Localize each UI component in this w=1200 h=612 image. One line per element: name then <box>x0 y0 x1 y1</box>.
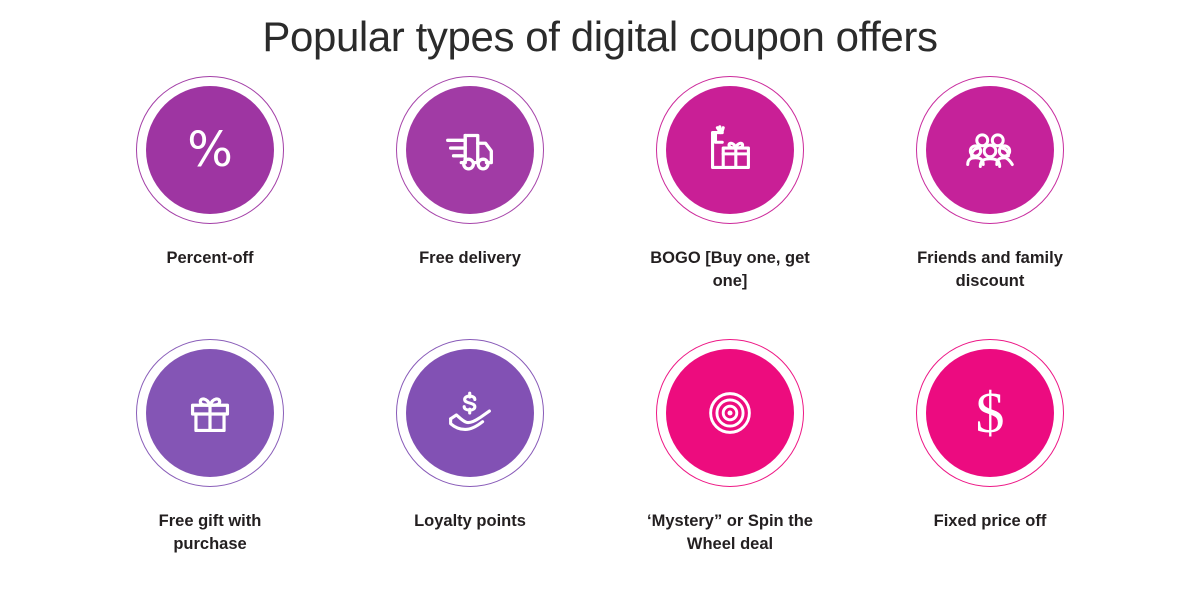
offer-label: BOGO [Buy one, get one] <box>643 247 818 294</box>
offers-grid: % Percent-off <box>80 86 1120 612</box>
offer-badge-bogo <box>666 86 794 214</box>
offer-label: Percent-off <box>123 247 298 270</box>
offer-badge-free-delivery <box>406 86 534 214</box>
offer-label: Friends and family discount <box>903 247 1078 294</box>
offer-item-fixed-price-off: $ Fixed price off <box>860 349 1120 612</box>
offer-badge-friends-and-family-discount <box>926 86 1054 214</box>
two-gifts-icon <box>699 119 761 181</box>
offer-item-percent-off: % Percent-off <box>80 86 340 349</box>
offer-label: Free gift with purchase <box>123 510 298 557</box>
dollar-sign-icon: $ <box>976 384 1005 442</box>
percent-icon: % <box>187 126 233 174</box>
offer-badge-percent-off: % <box>146 86 274 214</box>
offer-item-friends-and-family-discount: Friends and family discount <box>860 86 1120 349</box>
offer-item-free-delivery: Free delivery <box>340 86 600 349</box>
offer-badge-loyalty-points <box>406 349 534 477</box>
page-title: Popular types of digital coupon offers <box>0 12 1200 62</box>
bullseye-target-icon <box>699 382 761 444</box>
delivery-truck-icon <box>439 119 501 181</box>
offer-badge-free-gift-with-purchase <box>146 349 274 477</box>
infographic-root: Popular types of digital coupon offers %… <box>0 0 1200 588</box>
hand-holding-dollar-icon <box>439 382 501 444</box>
gift-box-icon <box>179 382 241 444</box>
offer-item-free-gift-with-purchase: Free gift with purchase <box>80 349 340 612</box>
offer-label: Loyalty points <box>383 510 558 533</box>
offer-label: Fixed price off <box>903 510 1078 533</box>
people-group-icon <box>959 119 1021 181</box>
offer-item-bogo: BOGO [Buy one, get one] <box>600 86 860 349</box>
offer-item-mystery-spin-the-wheel: ‘Mystery” or Spin the Wheel deal <box>600 349 860 612</box>
offer-label: Free delivery <box>383 247 558 270</box>
offer-item-loyalty-points: Loyalty points <box>340 349 600 612</box>
offer-badge-mystery-spin-the-wheel <box>666 349 794 477</box>
offer-label: ‘Mystery” or Spin the Wheel deal <box>643 510 818 557</box>
offer-badge-fixed-price-off: $ <box>926 349 1054 477</box>
